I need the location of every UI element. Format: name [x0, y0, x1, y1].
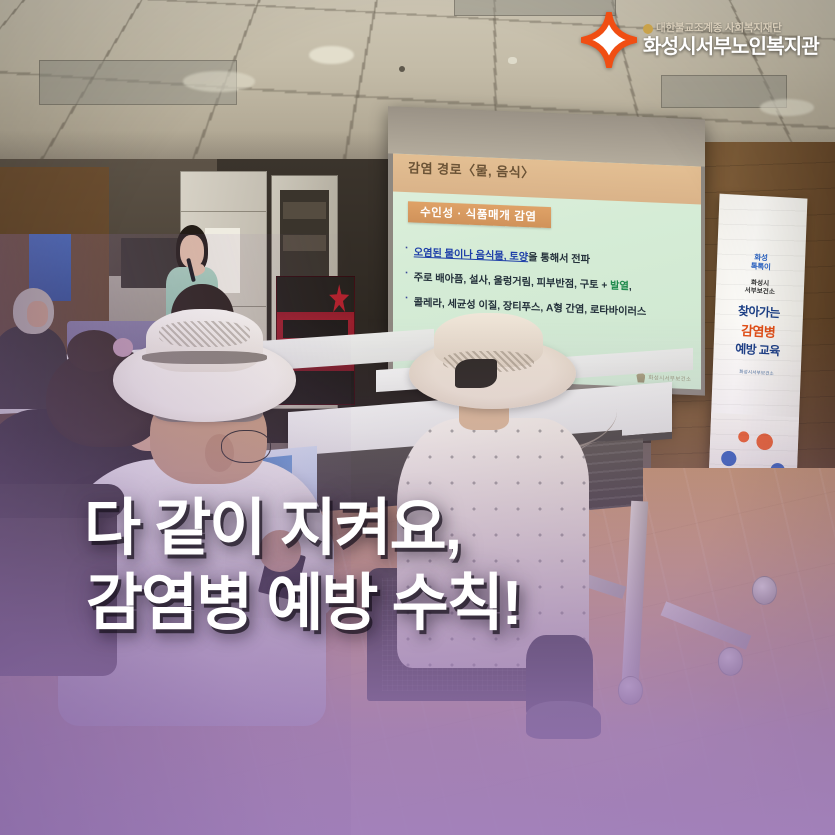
- slide-body: · 오염된 물이나 음식물, 토양을 통해서 전파 · 주로 배아픔, 설사, …: [405, 243, 694, 330]
- ceiling-light-icon: [183, 71, 255, 91]
- brand-text: 대한불교조계종 사회복지재단 화성시서부노인복지관: [643, 23, 819, 57]
- rack-slot: [283, 202, 326, 218]
- bullet-dot-icon: ·: [405, 293, 409, 304]
- fedora-hat-band: [142, 351, 267, 364]
- bullet-dot-icon: ·: [405, 243, 409, 254]
- attendee-hat-woman-pattern: [397, 418, 589, 669]
- rollup-banner: 화성 톡톡이 화성시 서부보건소 찾아가는 감염병 예방 교육 화성시서부보건소: [708, 194, 807, 487]
- slide-bullet-2: · 주로 배아픔, 설사, 울렁거림, 피부반점, 구토 + 발열,: [405, 268, 694, 295]
- brand-lockup: 대한불교조계종 사회복지재단 화성시서부노인복지관: [581, 12, 819, 68]
- banner-brush-line2: 톡톡이: [750, 263, 770, 273]
- cabinet-shelf-line: [181, 211, 267, 212]
- attendee-hat-woman-shoe: [526, 701, 601, 739]
- bullet-2-tail: ,: [629, 281, 632, 292]
- attendee-fedora-man-hand: [259, 530, 301, 572]
- slide-bullet-3: · 콜레라, 세균성 이질, 장티푸스, A형 간염, 로타바이러스: [405, 293, 694, 320]
- banner-org-line1: 화성시: [745, 279, 776, 290]
- caster-wheel: [752, 576, 777, 604]
- cardnews-poster: 감염 경로〈물, 음식〉 수인성 · 식품매개 감염 · 오염된 물이나 음식물…: [0, 0, 835, 835]
- attendee-hair-tie: [113, 338, 133, 356]
- slide-bullet-1: · 오염된 물이나 음식물, 토양을 통해서 전파: [405, 243, 694, 270]
- slide-subtitle: 수인성 · 식품매개 감염: [408, 201, 550, 228]
- bullet-1-highlight: 오염된 물이나 음식물, 토양: [414, 247, 528, 263]
- banner-brush-line1: 화성: [751, 254, 771, 264]
- banner-brush-text: 화성 톡톡이: [750, 254, 770, 272]
- bucket-hat-bow: [455, 359, 497, 388]
- attendee-back-left-face: [27, 301, 49, 328]
- smoke-detector-icon: [508, 57, 517, 64]
- bullet-2-lead: 주로 배아픔, 설사, 울렁거림, 피부반점, 구토 +: [414, 272, 610, 291]
- banner-org-line2: 서부보건소: [744, 288, 775, 299]
- banner-title-line1: 찾아가는: [738, 302, 780, 321]
- fedora-hat-mesh: [159, 321, 251, 346]
- bullet-dot-icon: ·: [405, 268, 409, 279]
- chair-front-left: [0, 493, 117, 677]
- banner-title-line3: 예방 교육: [735, 340, 780, 359]
- foundation-label: 대한불교조계종 사회복지재단: [656, 23, 782, 34]
- bullet-3-text: 콜레라, 세균성 이질, 장티푸스, A형 간염, 로타바이러스: [414, 293, 646, 318]
- four-point-star-icon: [581, 12, 637, 68]
- ceiling-light-icon: [760, 99, 814, 116]
- eyeglasses-icon: [221, 430, 271, 463]
- photo-scene: 감염 경로〈물, 음식〉 수인성 · 식품매개 감염 · 오염된 물이나 음식물…: [0, 0, 835, 835]
- rack-slot: [283, 235, 326, 251]
- organization-name: 화성시서부노인복지관: [643, 37, 819, 57]
- foundation-emblem-icon: [643, 24, 653, 34]
- caster-wheel: [718, 647, 743, 675]
- banner-footer-text: 화성시서부보건소: [739, 369, 774, 377]
- banner-organization: 화성시 서부보건소: [744, 279, 775, 298]
- bullet-2-accent: 발열: [610, 280, 629, 292]
- chair-front-left-rim: [0, 484, 125, 517]
- banner-title-line2: 감염병: [741, 320, 776, 341]
- caster-wheel: [618, 676, 643, 704]
- bullet-1-rest: 을 통해서 전파: [528, 252, 590, 266]
- foundation-line: 대한불교조계종 사회복지재단: [643, 23, 819, 34]
